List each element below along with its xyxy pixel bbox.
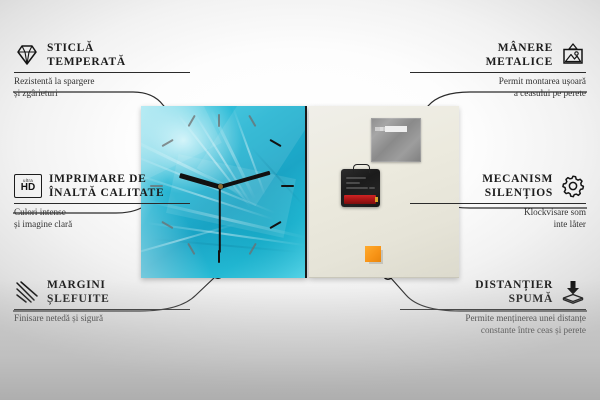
callout-divider (400, 309, 586, 310)
callout-subtitle: Klockvisare som inte låter (410, 207, 586, 231)
callout-divider (14, 309, 190, 310)
hands-center-cap (218, 184, 223, 189)
hour-marker-5 (249, 243, 257, 255)
callout-margini-slefuite[interactable]: MARGINI ȘLEFUITE Finisare netedă și sigu… (14, 278, 190, 325)
ultra-hd-icon: ultra HD (14, 174, 42, 198)
hour-marker-7 (188, 243, 196, 255)
callout-subtitle: Culori intense și imagine clară (14, 207, 190, 231)
diamond-icon (14, 42, 40, 68)
callout-header: ultra HD IMPRIMARE DE ÎNALTĂ CALITATE (14, 172, 190, 200)
callout-divider (14, 203, 190, 204)
callout-sticla-temperata[interactable]: STICLĂ TEMPERATĂ Rezistentă la spargere … (14, 41, 190, 100)
hanger-plate (371, 118, 421, 162)
callout-title: MÂNERE METALICE (486, 41, 553, 69)
callout-header: MECANISM SILENȚIOS (410, 172, 586, 200)
clock-movement (341, 169, 380, 207)
callout-header: MÂNERE METALICE (410, 41, 586, 69)
callout-header: MARGINI ȘLEFUITE (14, 278, 190, 306)
picture-hanger-icon (560, 42, 586, 68)
foam-spacer (365, 246, 381, 262)
callout-manere-metalice[interactable]: MÂNERE METALICE Permit montarea ușoară a… (410, 41, 586, 100)
ultra-hd-icon-main-text: HD (21, 183, 35, 193)
callout-title: MECANISM SILENȚIOS (482, 172, 553, 200)
movement-marking (346, 187, 368, 189)
movement-marking (369, 187, 375, 189)
second-hand (219, 187, 221, 253)
callout-divider (410, 203, 586, 204)
callout-divider (410, 72, 586, 73)
callout-header: STICLĂ TEMPERATĂ (14, 41, 190, 69)
callout-title: IMPRIMARE DE ÎNALTĂ CALITATE (49, 172, 164, 200)
callout-subtitle: Permit montarea ușoară a ceasului pe per… (410, 76, 586, 100)
callout-subtitle: Finisare netedă și sigură (14, 313, 190, 325)
movement-hanger-tab (353, 164, 370, 173)
hour-marker-12 (218, 114, 220, 127)
callout-subtitle: Rezistentă la spargere și zgârieturi (14, 76, 190, 100)
bevel-edge-icon (14, 279, 40, 305)
gear-icon (560, 173, 586, 199)
hour-marker-3 (281, 185, 294, 187)
down-arrow-pad-icon (560, 279, 586, 305)
callout-title: MARGINI ȘLEFUITE (47, 278, 109, 306)
movement-marking (346, 182, 360, 184)
callout-subtitle: Permite menținerea unei distanțe constan… (400, 313, 586, 337)
callout-divider (14, 72, 190, 73)
callout-header: DISTANȚIER SPUMĂ (400, 278, 586, 306)
battery (344, 195, 376, 204)
product-infographic: STICLĂ TEMPERATĂ Rezistentă la spargere … (0, 0, 600, 400)
callout-mecanism-silentios[interactable]: MECANISM SILENȚIOS Klockvisare som inte … (410, 172, 586, 231)
callout-imprimare-hd[interactable]: ultra HD IMPRIMARE DE ÎNALTĂ CALITATE Cu… (14, 172, 190, 231)
callout-distantier-spuma[interactable]: DISTANȚIER SPUMĂ Permite menținerea unei… (400, 278, 586, 337)
movement-marking (346, 177, 366, 179)
callout-title: STICLĂ TEMPERATĂ (47, 41, 126, 69)
callout-title: DISTANȚIER SPUMĂ (475, 278, 553, 306)
hanger-slot (385, 126, 407, 132)
